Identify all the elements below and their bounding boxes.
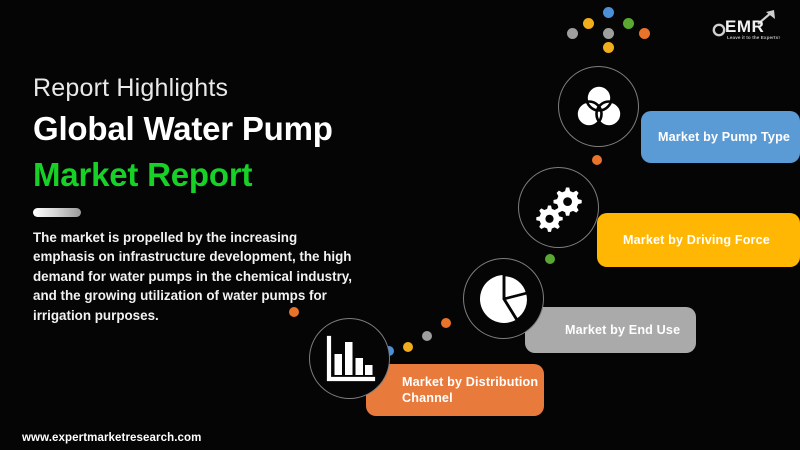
segment-pill-distribution-channel[interactable]: Market by Distribution Channel xyxy=(366,364,544,416)
segment-icon-ring-driving-force[interactable] xyxy=(518,167,599,248)
segment-label-driving-force: Market by Driving Force xyxy=(623,232,770,248)
decor-dot xyxy=(639,28,650,39)
page-description: The market is propelled by the increasin… xyxy=(33,228,353,325)
website-url[interactable]: www.expertmarketresearch.com xyxy=(22,432,201,444)
venn-diagram-icon xyxy=(574,83,624,131)
svg-text:Leave it to the Experts!: Leave it to the Experts! xyxy=(727,35,780,40)
bar-chart-icon xyxy=(324,334,376,384)
title-divider xyxy=(33,208,81,217)
decor-dot xyxy=(603,28,614,39)
decor-dot xyxy=(603,7,614,18)
segment-pill-end-use[interactable]: Market by End Use xyxy=(525,307,696,353)
decor-dot xyxy=(403,342,413,352)
gears-icon xyxy=(533,183,585,233)
segment-icon-ring-pump-type[interactable] xyxy=(558,66,639,147)
segment-icon-ring-end-use[interactable] xyxy=(463,258,544,339)
decor-dot xyxy=(623,18,634,29)
decor-dot xyxy=(583,18,594,29)
decor-dot xyxy=(592,155,602,165)
page-title-line2: Market Report xyxy=(33,156,252,194)
decor-dot xyxy=(545,254,555,264)
decor-dot xyxy=(441,318,451,328)
pie-chart-icon xyxy=(477,272,531,326)
decor-dot xyxy=(422,331,432,341)
poster-canvas: EMR Leave it to the Experts! Report High… xyxy=(0,0,800,450)
svg-text:EMR: EMR xyxy=(725,17,764,36)
segment-pill-driving-force[interactable]: Market by Driving Force xyxy=(597,213,800,267)
segment-pill-pump-type[interactable]: Market by Pump Type xyxy=(641,111,800,163)
segment-label-end-use: Market by End Use xyxy=(565,322,680,338)
emr-logo[interactable]: EMR Leave it to the Experts! xyxy=(712,8,784,42)
page-eyebrow: Report Highlights xyxy=(33,74,228,103)
logo-circle-icon xyxy=(714,25,724,35)
decor-dot xyxy=(567,28,578,39)
segment-icon-ring-distribution-channel[interactable] xyxy=(309,318,390,399)
decor-dot xyxy=(289,307,299,317)
page-title-line1: Global Water Pump xyxy=(33,110,333,148)
decor-dot xyxy=(603,42,614,53)
segment-label-distribution-channel: Market by Distribution Channel xyxy=(402,374,544,406)
segment-label-pump-type: Market by Pump Type xyxy=(658,129,790,145)
